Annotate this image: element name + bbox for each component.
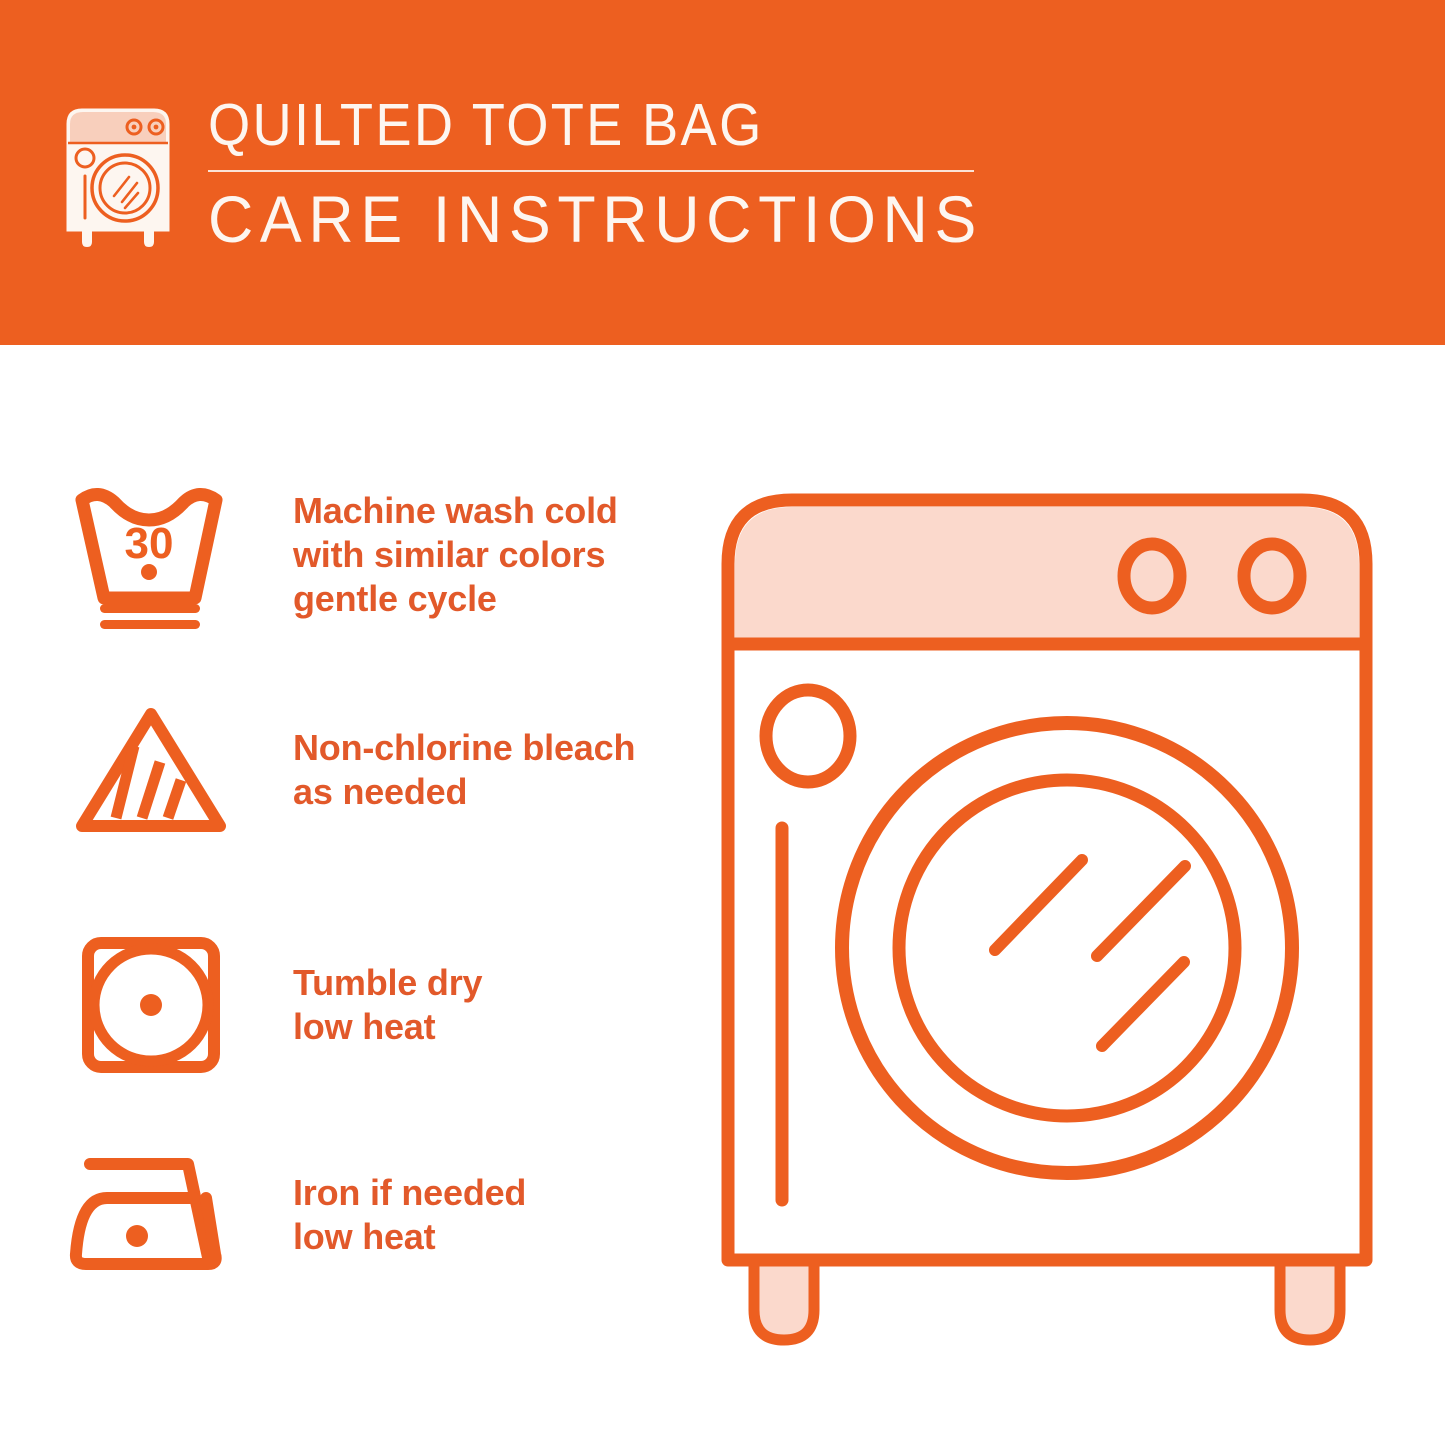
- care-row-machine-wash: 30 Machine wash cold with similar colors…: [68, 480, 618, 630]
- washer-control-panel: [735, 507, 1359, 644]
- care-text-tumble-dry: Tumble dry low heat: [293, 961, 482, 1049]
- care-text-iron: Iron if needed low heat: [293, 1171, 526, 1259]
- care-text-machine-wash: Machine wash cold with similar colors ge…: [293, 489, 618, 621]
- header-banner: QUILTED TOTE BAG CARE INSTRUCTIONS: [0, 0, 1445, 345]
- header-content: QUILTED TOTE BAG CARE INSTRUCTIONS: [62, 92, 1024, 254]
- page-subtitle: CARE INSTRUCTIONS: [208, 184, 983, 254]
- washing-machine-illustration: [712, 478, 1382, 1368]
- wash-temperature-label: 30: [125, 519, 174, 568]
- care-instructions-infographic: QUILTED TOTE BAG CARE INSTRUCTIONS 30: [0, 0, 1445, 1445]
- header-text-block: QUILTED TOTE BAG CARE INSTRUCTIONS: [208, 92, 1024, 254]
- tumble-dry-icon: [68, 935, 233, 1075]
- page-title: QUILTED TOTE BAG: [208, 94, 958, 156]
- care-symbol-wrapper: [68, 935, 233, 1075]
- care-symbol-wrapper: [68, 700, 233, 840]
- care-row-iron: Iron if needed low heat: [68, 1150, 526, 1280]
- washing-machine-icon: [62, 98, 174, 248]
- title-divider: [208, 170, 974, 172]
- care-row-bleach: Non-chlorine bleach as needed: [68, 700, 635, 840]
- bleach-triangle-icon: [68, 700, 233, 840]
- care-instruction-list: 30 Machine wash cold with similar colors…: [0, 345, 700, 1445]
- care-row-tumble-dry: Tumble dry low heat: [68, 935, 482, 1075]
- care-symbol-wrapper: [68, 1150, 233, 1280]
- care-text-bleach: Non-chlorine bleach as needed: [293, 726, 635, 814]
- care-symbol-wrapper: 30: [68, 480, 233, 630]
- wash-tub-icon: 30: [68, 480, 233, 630]
- iron-icon: [68, 1150, 233, 1280]
